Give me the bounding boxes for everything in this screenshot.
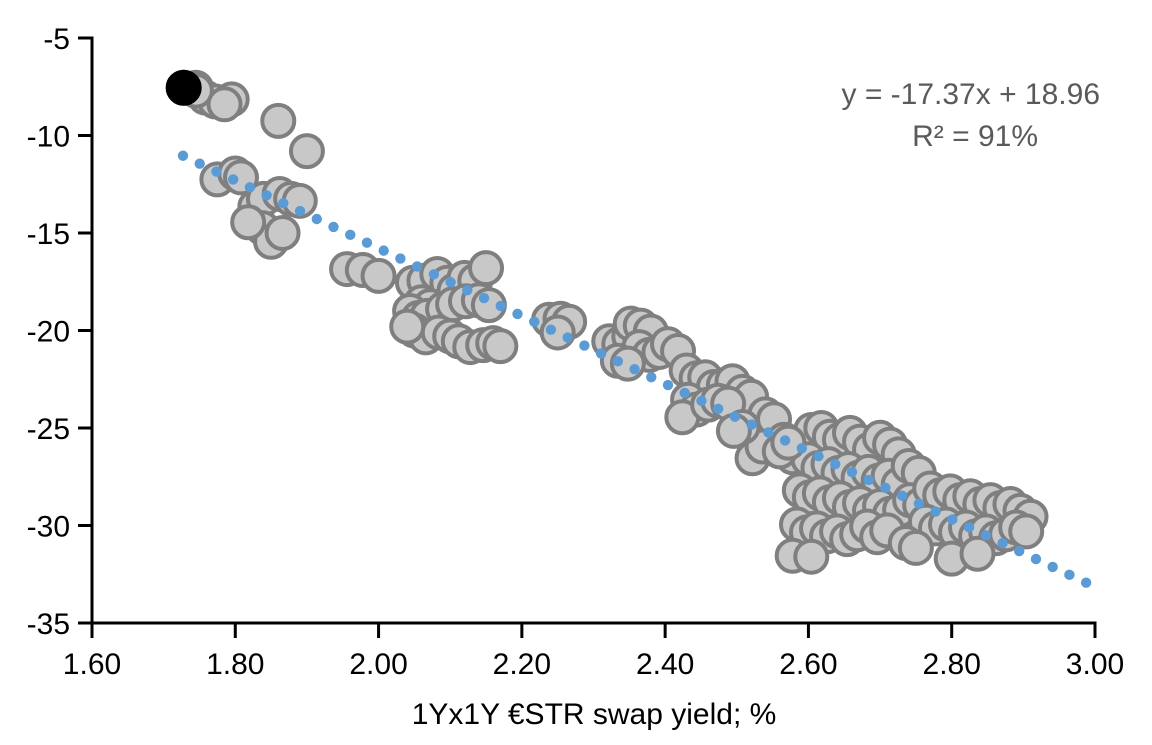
scatter-point [962,538,994,570]
x-tick-label: 2.40 [636,648,694,681]
r-squared-label: R² = 91% [912,120,1038,153]
y-tick-label: -5 [43,23,70,56]
trendline-dot [362,238,372,248]
regression-equation-label: y = -17.37x + 18.96 [841,78,1100,111]
trendline-dot [596,348,606,358]
trendline-dot [345,230,355,240]
trendline-dot [211,166,221,176]
trendline-dot [429,269,439,279]
trendline-dot [479,293,489,303]
trendline-dot [864,475,874,485]
trendline-dot [981,530,991,540]
trendline-dot [1047,562,1057,572]
trendline-dot [696,396,706,406]
x-axis-title: 1Yx1Y €STR swap yield; % [412,698,777,731]
trendline-dot [562,332,572,342]
y-tick-label: -20 [27,316,70,349]
trendline-dot [780,435,790,445]
trendline-dot [847,467,857,477]
y-axis-tick-labels: -5-10-15-20-25-30-35 [27,23,70,641]
highlight-marker [168,72,200,104]
trendline-dot [512,309,522,319]
trendline-dot [529,317,539,327]
y-tick-label: -15 [27,218,70,251]
trendline-dot [312,214,322,224]
trendline-dot [395,253,405,263]
scatter-point [795,541,827,573]
y-axis-ticks [78,38,92,623]
scatter-point [262,105,294,137]
trendline-dot [914,498,924,508]
trendline-dot [964,522,974,532]
trendline-dot [579,340,589,350]
trendline-dot [1064,570,1074,580]
x-tick-label: 1.60 [63,648,121,681]
trendline-dot [680,388,690,398]
x-tick-label: 2.80 [923,648,981,681]
trendline-dot [228,174,238,184]
scatter-point [470,252,502,284]
trendline-dot [997,538,1007,548]
x-tick-label: 2.20 [493,648,551,681]
trendline-dot [412,261,422,271]
x-tick-label: 2.00 [349,648,407,681]
trendline-dot [178,151,188,161]
x-tick-label: 2.60 [779,648,837,681]
trendline-dot [830,459,840,469]
trendline-dot [462,285,472,295]
trendline-dot [813,451,823,461]
trendline-dot [663,380,673,390]
trendline-dot [195,158,205,168]
scatter-point [232,206,264,238]
trendline-dot [328,222,338,232]
trendline-dot [880,483,890,493]
trendline-dotted [178,151,1092,588]
trendline-dot [546,325,556,335]
x-axis-ticks [92,623,1095,638]
scatter-point [542,316,574,348]
y-tick-label: -10 [27,121,70,154]
y-tick-label: -35 [27,608,70,641]
trendline-dot [496,301,506,311]
trendline-dot [629,364,639,374]
scatter-point [363,260,395,292]
x-axis-tick-labels: 1.601.802.002.202.402.602.803.00 [63,648,1124,681]
trendline-dot [613,356,623,366]
trendline-dot [1081,578,1091,588]
scatter-point [484,330,516,362]
scatter-point [1010,515,1042,547]
trendline-dot [730,411,740,421]
trendline-dot [245,182,255,192]
trendline-dot [445,277,455,287]
trendline-dot [930,506,940,516]
trendline-dot [295,206,305,216]
scatter-point [209,88,241,120]
trendline-dot [897,491,907,501]
trendline-dot [797,443,807,453]
scatter-point [900,532,932,564]
y-tick-label: -30 [27,511,70,544]
trendline-dot [378,245,388,255]
trendline-dot [1014,546,1024,556]
x-tick-label: 1.80 [206,648,264,681]
trendline-dot [763,427,773,437]
scatter-chart: -5-10-15-20-25-30-35 1.601.802.002.202.4… [0,0,1152,745]
chart-canvas: -5-10-15-20-25-30-35 1.601.802.002.202.4… [0,0,1152,745]
trendline-dot [746,419,756,429]
scatter-point [267,217,299,249]
highlight-point [168,72,200,104]
trendline-dot [1031,554,1041,564]
trendline-dot [278,198,288,208]
x-tick-label: 3.00 [1066,648,1124,681]
trendline-dot [646,372,656,382]
scatter-point [291,135,323,167]
trendline-dot [713,404,723,414]
trendline-dot [947,514,957,524]
scatter-point [391,311,423,343]
y-tick-label: -25 [27,413,70,446]
trendline-dot [261,190,271,200]
